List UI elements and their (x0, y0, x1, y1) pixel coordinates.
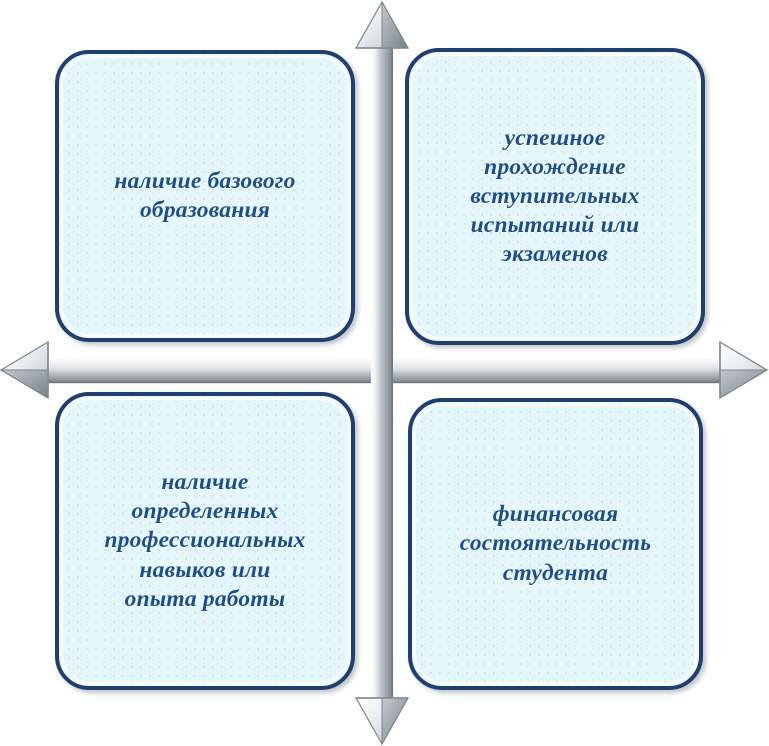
quadrant-label-bottom-left: наличие определенных профессиональных на… (82, 468, 327, 614)
quadrant-label-bottom-right: финансовая состоятельность студента (438, 500, 673, 587)
quadrant-label-top-right: успешное прохождение вступительных испыт… (448, 124, 661, 270)
quadrant-box-top-left[interactable]: наличие базового образования (55, 50, 355, 342)
arrow-down-head (356, 698, 408, 744)
arrow-left-head (1, 342, 48, 398)
quadrant-label-top-left: наличие базового образования (92, 167, 317, 225)
vertical-axis-shaft (371, 30, 393, 720)
quadrant-box-bottom-right[interactable]: финансовая состоятельность студента (408, 398, 703, 690)
quadrant-box-bottom-left[interactable]: наличие определенных профессиональных на… (55, 392, 355, 690)
horizontal-axis-shaft (38, 358, 732, 383)
quadrant-box-top-right[interactable]: успешное прохождение вступительных испыт… (405, 48, 705, 345)
arrow-up-head (356, 2, 408, 48)
arrow-right-head (720, 342, 767, 398)
diagram-canvas: наличие базового образования успешное пр… (0, 0, 769, 746)
